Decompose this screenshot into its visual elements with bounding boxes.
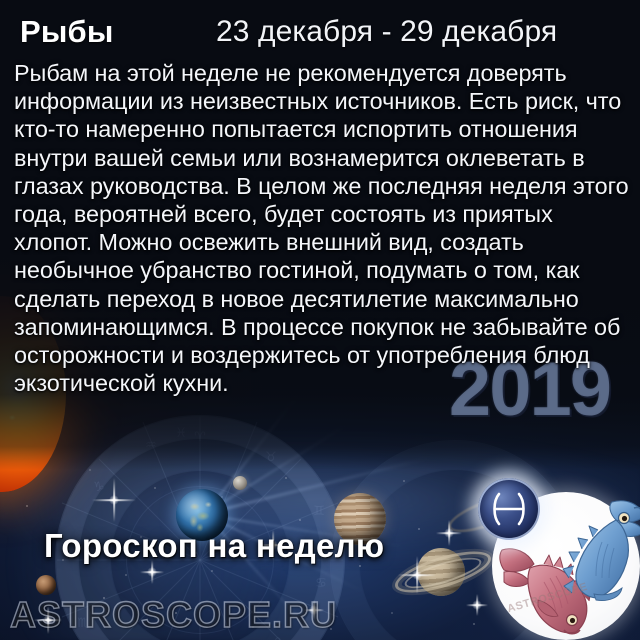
zodiac-sign-title: Рыбы (20, 14, 114, 50)
pisces-badge: ASTROSCOPE (492, 492, 640, 640)
saturn-planet (391, 535, 497, 609)
minor-planet (36, 575, 56, 595)
footer-caption: Гороскоп на неделю (44, 527, 384, 565)
pisces-symbol-icon (489, 489, 529, 529)
pisces-symbol-medallion (478, 478, 540, 540)
site-watermark: ASTROSCOPE.RU (10, 594, 337, 636)
header: Рыбы 23 декабря - 29 декабря (0, 14, 640, 54)
horoscope-card: ♈♉ ♊♋ ♌♍ ♎♏ ♐♑ ♒♓ 2019 Рыбы 23 декабря -… (0, 0, 640, 640)
moon (233, 476, 247, 490)
horoscope-body-text: Рыбам на этой неделе не рекомендуется до… (14, 59, 630, 397)
date-range-label: 23 декабря - 29 декабря (216, 15, 557, 49)
